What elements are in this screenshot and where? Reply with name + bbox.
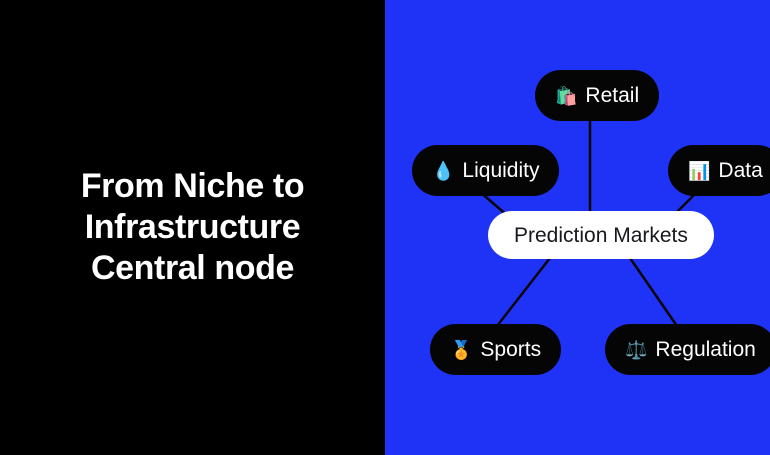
mindmap-node-center[interactable]: Prediction Markets bbox=[488, 211, 714, 259]
page-title: From Niche to Infrastructure Central nod… bbox=[28, 166, 358, 289]
headline-panel: From Niche to Infrastructure Central nod… bbox=[0, 0, 385, 455]
mindmap-node-label: Regulation bbox=[655, 339, 755, 360]
mindmap-node-label: Retail bbox=[585, 85, 639, 106]
mindmap-node-regulation[interactable]: ⚖️ Regulation bbox=[605, 324, 770, 375]
mindmap-node-label: Liquidity bbox=[462, 160, 539, 181]
mindmap-node-sports[interactable]: 🏅 Sports bbox=[430, 324, 561, 375]
mindmap-panel: 🛍️ Retail 💧 Liquidity 📊 Data 🏅 Sports ⚖️… bbox=[385, 0, 770, 455]
bar-chart-icon: 📊 bbox=[688, 162, 710, 180]
sports-medal-icon: 🏅 bbox=[450, 341, 472, 359]
mindmap-node-label: Data bbox=[718, 160, 762, 181]
mindmap-node-label: Sports bbox=[480, 339, 541, 360]
mindmap-node-data[interactable]: 📊 Data bbox=[668, 145, 770, 196]
edge-center-regulation bbox=[630, 258, 677, 326]
balance-scale-icon: ⚖️ bbox=[625, 341, 647, 359]
mindmap-center-label: Prediction Markets bbox=[514, 225, 688, 246]
shopping-bags-icon: 🛍️ bbox=[555, 87, 577, 105]
mindmap-node-retail[interactable]: 🛍️ Retail bbox=[535, 70, 659, 121]
edge-center-sports bbox=[497, 258, 550, 326]
water-droplet-icon: 💧 bbox=[432, 162, 454, 180]
mindmap-node-liquidity[interactable]: 💧 Liquidity bbox=[412, 145, 559, 196]
slide-canvas: From Niche to Infrastructure Central nod… bbox=[0, 0, 770, 455]
